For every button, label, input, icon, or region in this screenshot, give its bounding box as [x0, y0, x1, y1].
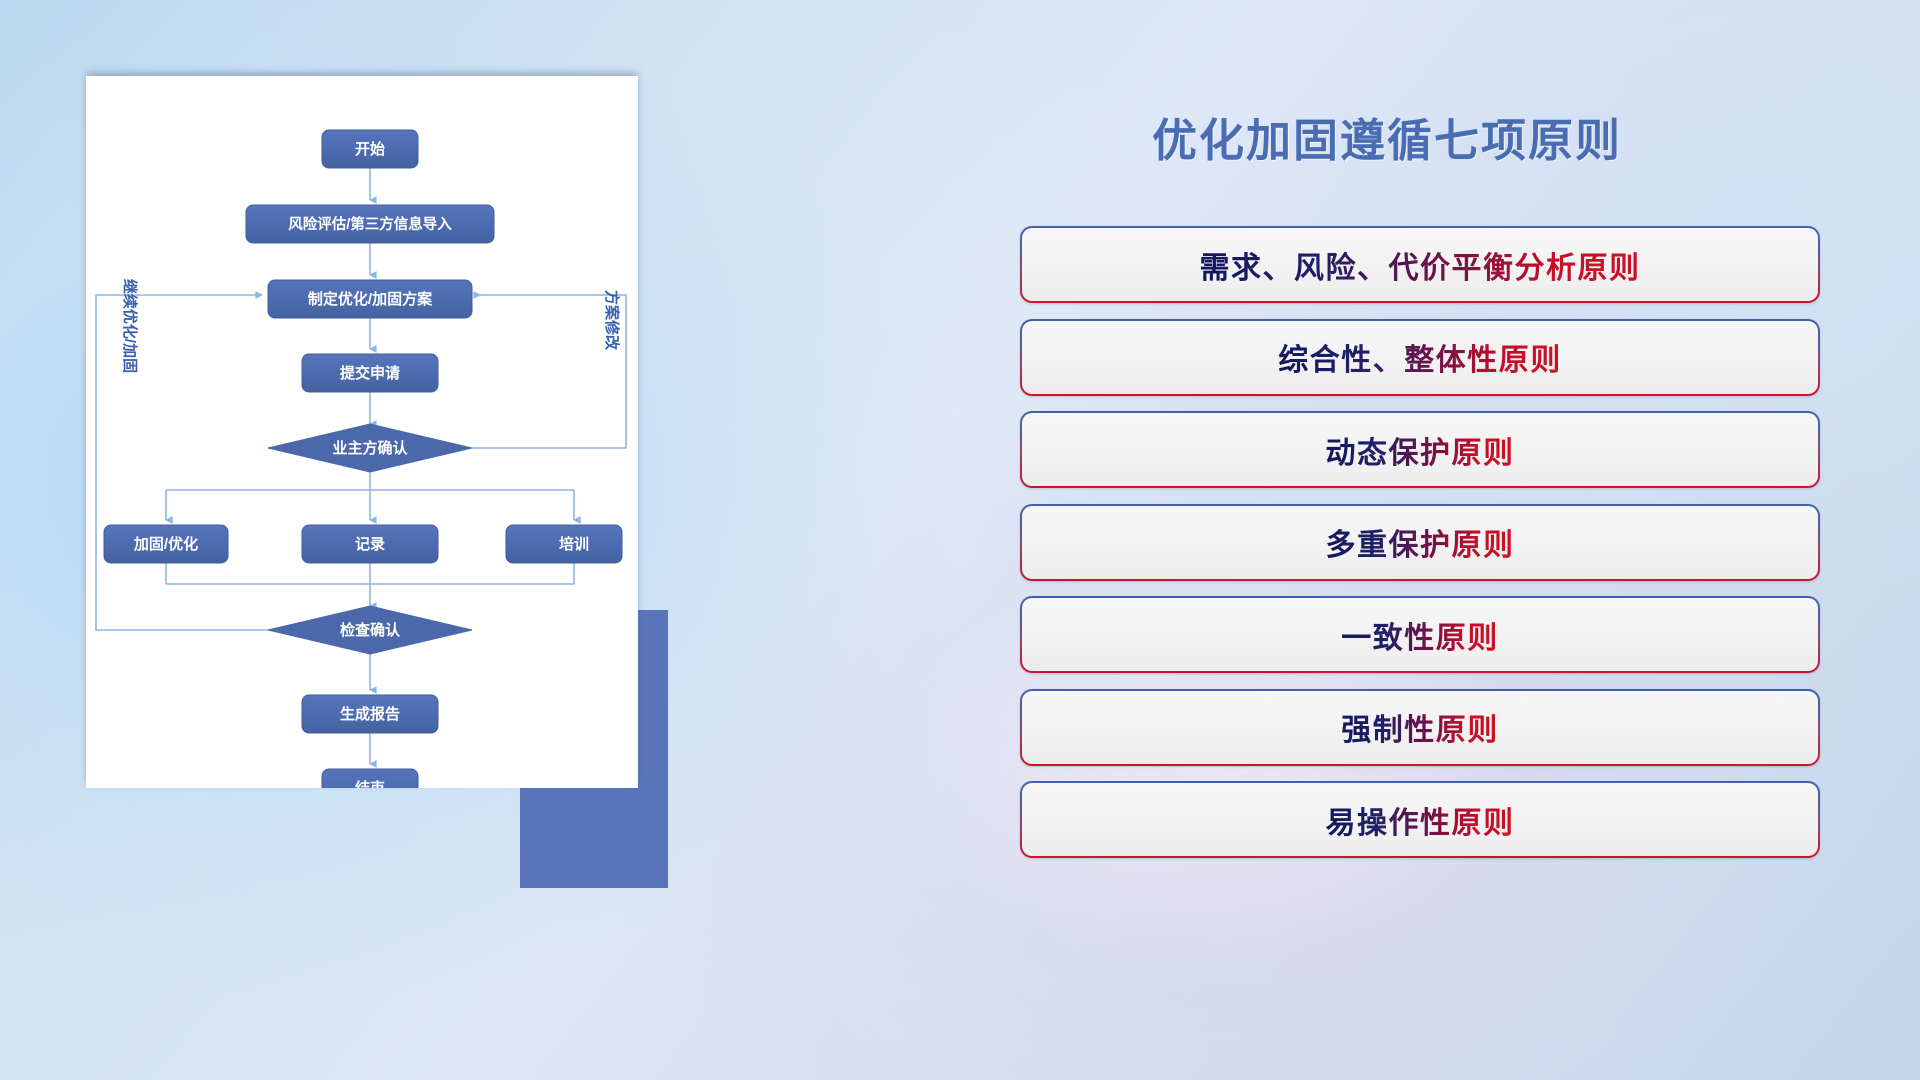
- flow-node-make-plan-label: 制定优化/加固方案: [308, 290, 433, 308]
- principle-card[interactable]: 需求、风险、代价平衡分析原则: [1020, 226, 1820, 303]
- principle-card[interactable]: 多重保护原则: [1020, 504, 1820, 581]
- flow-node-start-label: 开始: [355, 140, 385, 158]
- flowchart-panel: 开始 风险评估/第三方信息导入 制定优化/加固方案 提交申请 业主方确认: [86, 76, 638, 788]
- principle-card-inner: 多重保护原则: [1022, 506, 1818, 579]
- principle-card[interactable]: 一致性原则: [1020, 596, 1820, 673]
- principle-card-inner: 一致性原则: [1022, 598, 1818, 671]
- principle-card[interactable]: 动态保护原则: [1020, 411, 1820, 488]
- flow-node-owner-confirm-label: 业主方确认: [332, 439, 408, 457]
- principle-label: 一致性原则: [1341, 613, 1499, 657]
- flow-node-training-label: 培训: [559, 535, 589, 553]
- flow-node-start[interactable]: 开始: [322, 130, 418, 168]
- flow-node-end[interactable]: 结束: [322, 769, 418, 788]
- flow-edge-label-right-loop: 方案修改: [603, 290, 621, 351]
- flow-node-record-label: 记录: [355, 536, 385, 553]
- flow-node-generate-report-label: 生成报告: [340, 705, 400, 723]
- flow-node-training[interactable]: 培训: [506, 525, 622, 563]
- flow-node-end-label: 结束: [355, 779, 386, 788]
- flow-node-make-plan[interactable]: 制定优化/加固方案: [268, 280, 472, 318]
- flow-node-submit-application[interactable]: 提交申请: [302, 354, 438, 392]
- principle-label: 强制性原则: [1341, 705, 1499, 749]
- flow-node-risk-assessment[interactable]: 风险评估/第三方信息导入: [246, 205, 494, 243]
- principle-card[interactable]: 强制性原则: [1020, 689, 1820, 766]
- principles-panel: 优化加固遵循七项原则 需求、风险、代价平衡分析原则 综合性、整体性原则 动态保护…: [1020, 78, 1852, 1008]
- flowchart-card: 开始 风险评估/第三方信息导入 制定优化/加固方案 提交申请 业主方确认: [86, 76, 638, 788]
- principle-card-inner: 强制性原则: [1022, 691, 1818, 764]
- flow-node-inspection-confirm-label: 检查确认: [340, 621, 401, 639]
- flow-node-inspection-confirm[interactable]: 检查确认: [268, 606, 472, 654]
- flow-node-submit-application-label: 提交申请: [340, 364, 400, 382]
- principle-card-inner: 动态保护原则: [1022, 413, 1818, 486]
- flow-node-generate-report[interactable]: 生成报告: [302, 695, 438, 733]
- principle-label: 易操作性原则: [1326, 798, 1515, 842]
- flow-node-reinforce-optimize-label: 加固/优化: [133, 535, 198, 553]
- principle-card-inner: 需求、风险、代价平衡分析原则: [1022, 228, 1818, 301]
- principle-label: 多重保护原则: [1326, 520, 1515, 564]
- principle-label: 需求、风险、代价平衡分析原则: [1200, 243, 1641, 287]
- flow-node-record[interactable]: 记录: [302, 525, 438, 563]
- principle-label: 综合性、整体性原则: [1278, 335, 1562, 379]
- principles-title: 优化加固遵循七项原则: [1152, 104, 1622, 169]
- flow-edge-label-left-loop: 继续优化/加固: [121, 279, 139, 373]
- principle-card[interactable]: 综合性、整体性原则: [1020, 319, 1820, 396]
- flowchart-diagram: 开始 风险评估/第三方信息导入 制定优化/加固方案 提交申请 业主方确认: [86, 76, 638, 788]
- principle-card-inner: 综合性、整体性原则: [1022, 321, 1818, 394]
- principle-label: 动态保护原则: [1326, 428, 1515, 472]
- principles-list: 需求、风险、代价平衡分析原则 综合性、整体性原则 动态保护原则 多重保护原则 一…: [1020, 226, 1820, 874]
- flow-node-reinforce-optimize[interactable]: 加固/优化: [104, 525, 228, 563]
- principle-card-inner: 易操作性原则: [1022, 783, 1818, 856]
- principle-card[interactable]: 易操作性原则: [1020, 781, 1820, 858]
- flow-node-risk-assessment-label: 风险评估/第三方信息导入: [288, 215, 452, 233]
- flow-node-owner-confirm[interactable]: 业主方确认: [268, 424, 472, 472]
